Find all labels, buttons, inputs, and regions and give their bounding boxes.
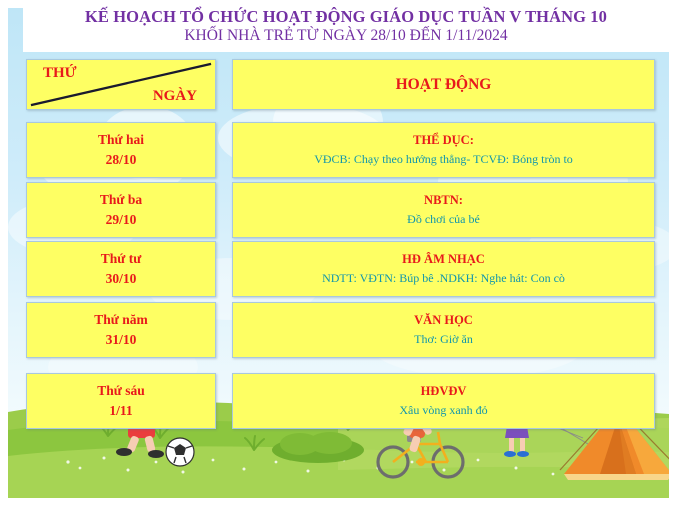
activity-subtitle: NDTT: VĐTN: Búp bê .NDKH: Nghe hát: Con …	[322, 270, 565, 287]
activity-title: NBTN:	[424, 192, 463, 210]
schedule-table: THỨ NGÀY HOẠT ĐỘNG Thứ hai 28/10 THỂ DỤC…	[0, 0, 677, 506]
activity-subtitle: Thơ: Giờ ăn	[414, 331, 473, 348]
day-name: Thứ tư	[101, 249, 142, 269]
activity-title: VĂN HỌC	[414, 312, 473, 330]
activity-title: HĐVĐV	[421, 383, 467, 401]
table-row-activity-cell: NBTN: Đồ chơi của bé	[232, 182, 655, 238]
table-row-day-cell: Thứ ba 29/10	[26, 182, 216, 238]
header-label-day: THỨ	[43, 65, 77, 82]
header-label-activity: HOẠT ĐỘNG	[396, 76, 492, 94]
table-row-activity-cell: VĂN HỌC Thơ: Giờ ăn	[232, 302, 655, 358]
table-row-day-cell: Thứ năm 31/10	[26, 302, 216, 358]
day-date: 29/10	[106, 210, 137, 230]
activity-title: THỂ DỤC:	[413, 132, 474, 150]
activity-subtitle: Đồ chơi của bé	[407, 211, 480, 228]
table-row-activity-cell: THỂ DỤC: VĐCB: Chạy theo hướng thẳng- TC…	[232, 122, 655, 178]
header-cell-activity: HOẠT ĐỘNG	[232, 59, 655, 110]
table-row-day-cell: Thứ tư 30/10	[26, 241, 216, 297]
activity-subtitle: VĐCB: Chạy theo hướng thẳng- TCVĐ: Bóng …	[314, 151, 573, 168]
day-date: 28/10	[106, 150, 137, 170]
day-name: Thứ hai	[98, 130, 144, 150]
day-date: 31/10	[106, 330, 137, 350]
day-name: Thứ sáu	[97, 381, 145, 401]
day-date: 1/11	[109, 401, 132, 421]
table-row-activity-cell: HĐVĐV Xâu vòng xanh đỏ	[232, 373, 655, 429]
table-row-activity-cell: HĐ ÂM NHẠC NDTT: VĐTN: Búp bê .NDKH: Ngh…	[232, 241, 655, 297]
activity-title: HĐ ÂM NHẠC	[402, 251, 485, 269]
day-date: 30/10	[106, 269, 137, 289]
activity-subtitle: Xâu vòng xanh đỏ	[399, 402, 487, 419]
header-label-date: NGÀY	[153, 88, 197, 105]
day-name: Thứ năm	[94, 310, 148, 330]
slide-canvas: KẾ HOẠCH TỔ CHỨC HOẠT ĐỘNG GIÁO DỤC TUẦN…	[0, 0, 677, 506]
header-cell-day-date: THỨ NGÀY	[26, 59, 216, 110]
day-name: Thứ ba	[100, 190, 142, 210]
table-row-day-cell: Thứ sáu 1/11	[26, 373, 216, 429]
table-row-day-cell: Thứ hai 28/10	[26, 122, 216, 178]
